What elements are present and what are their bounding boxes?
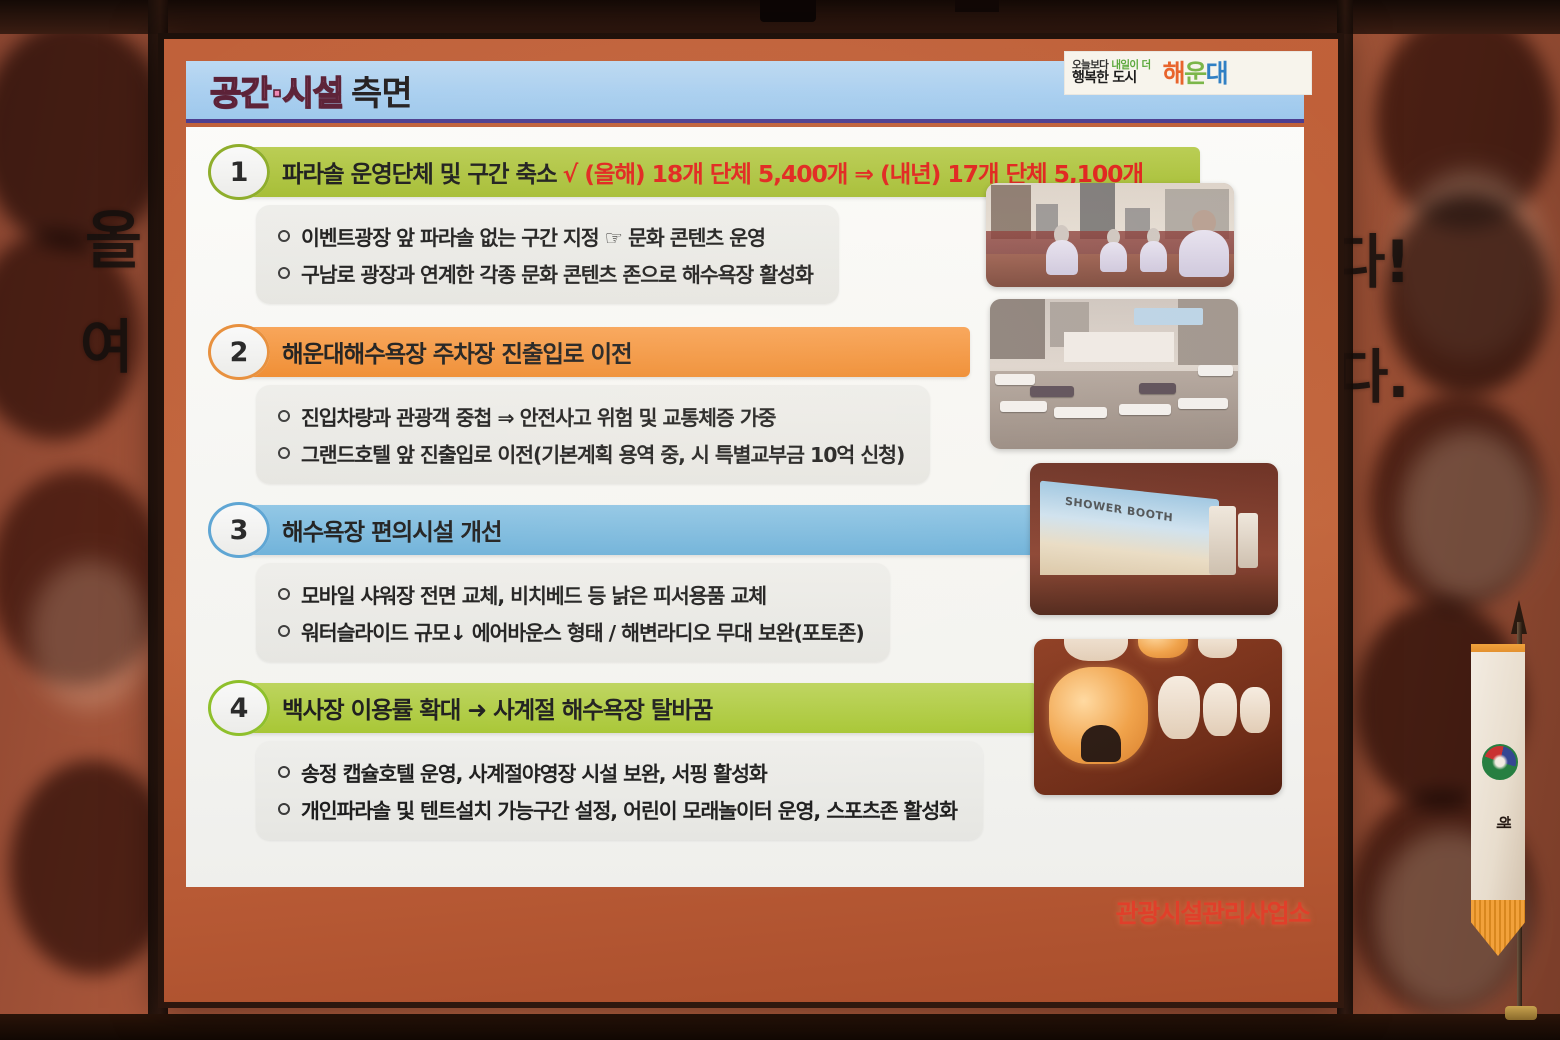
list-item: 워터슬라이드 규모↓ 에어바운스 형태 / 해변라디오 무대 보완(포토존) — [278, 612, 864, 649]
bullet-icon — [278, 447, 290, 459]
photo-capsule-hotel — [1034, 639, 1282, 795]
section-2-bullet-2: 그랜드호텔 앞 진출입로 이전(기본계획 용역 중, 시 특별교부금 10억 신… — [301, 438, 904, 468]
photo4-pod — [1138, 639, 1188, 658]
section-3: 해수욕장 편의시설 개선 3 모바일 샤워장 전면 교체, 비치베드 등 낡은 … — [208, 505, 890, 662]
section-4-number: 4 — [208, 680, 270, 736]
bullet-icon — [278, 230, 290, 242]
list-item: 진입차량과 관광객 중첩 ⇒ 안전사고 위험 및 교통체증 가중 — [278, 397, 904, 434]
photo-beach-performance — [986, 183, 1234, 287]
list-item: 개인파라솔 및 텐트설치 가능구간 설정, 어린이 모래놀이터 운영, 스포츠존… — [278, 790, 957, 827]
section-4-number-label: 4 — [230, 693, 249, 724]
list-item: 모바일 샤워장 전면 교체, 비치베드 등 낡은 피서용품 교체 — [278, 575, 864, 612]
section-2-header: 해운대해수욕장 주차장 진출입로 이전 2 — [208, 327, 930, 377]
haeundae-logo: 오늘보다 내일이 더 행복한 도시 해운대 — [1064, 51, 1312, 95]
section-3-number: 3 — [208, 502, 270, 558]
section-3-heading-text: 해수욕장 편의시설 개선 — [282, 518, 501, 546]
flag-text: 해 — [1493, 816, 1514, 830]
photo1-dancer — [1100, 229, 1127, 273]
photo2-car — [1054, 407, 1106, 418]
photo2-car — [1139, 383, 1176, 394]
photo1-dancer — [1140, 228, 1167, 273]
section-3-bar: 해수욕장 편의시설 개선 — [240, 505, 1038, 555]
haeundae-emblem-icon — [1482, 744, 1518, 780]
logo-brand-char-3: 대 — [1206, 59, 1228, 88]
logo-tagline: 오늘보다 내일이 더 행복한 도시 — [1072, 60, 1151, 86]
ceiling-fixture — [955, 0, 999, 12]
photo4-pod — [1198, 639, 1238, 658]
photo4-pod — [1203, 683, 1238, 736]
bullet-icon — [278, 803, 290, 815]
bullet-icon — [278, 766, 290, 778]
section-2-number: 2 — [208, 324, 270, 380]
section-3-bullet-1: 모바일 샤워장 전면 교체, 비치베드 등 낡은 피서용품 교체 — [301, 579, 766, 609]
list-item: 구남로 광장과 연계한 각종 문화 콘텐츠 존으로 해수욕장 활성화 — [278, 254, 813, 291]
bullet-icon — [278, 625, 290, 637]
photo2-car — [1198, 365, 1233, 376]
section-2-number-label: 2 — [230, 337, 249, 368]
section-4-heading-text: 백사장 이용률 확대 ➜ 사계절 해수욕장 탈바꿈 — [282, 696, 712, 724]
section-1-number-label: 1 — [230, 157, 249, 188]
photo3-unit — [1209, 506, 1236, 576]
section-3-number-label: 3 — [230, 515, 249, 546]
photo4-pod — [1158, 676, 1200, 738]
section-1-heading-text: 파라솔 운영단체 및 구간 축소 — [282, 160, 557, 188]
presentation-slide: 공간·시설측면 오늘보다 내일이 더 행복한 도시 해운대 — [164, 39, 1338, 1002]
bullet-icon — [278, 267, 290, 279]
ceremonial-flag: 해 — [1455, 600, 1551, 1020]
photo2-car — [1178, 398, 1228, 409]
page-title: 공간·시설측면 — [210, 66, 412, 115]
logo-brand-char-2: 운 — [1184, 59, 1206, 88]
ceiling-fixture — [760, 0, 816, 22]
section-2: 해운대해수욕장 주차장 진출입로 이전 2 진입차량과 관광객 중첩 ⇒ 안전사… — [208, 327, 930, 484]
section-1-number: 1 — [208, 144, 270, 200]
list-item: 그랜드호텔 앞 진출입로 이전(기본계획 용역 중, 시 특별교부금 10억 신… — [278, 434, 904, 471]
photo1-dancer — [1046, 225, 1078, 275]
section-4-bar: 백사장 이용률 확대 ➜ 사계절 해수욕장 탈바꿈 — [240, 683, 1038, 733]
photo3-ground — [1030, 575, 1278, 615]
photo2-building — [990, 299, 1045, 359]
projection-screen: 공간·시설측면 오늘보다 내일이 더 행복한 도시 해운대 — [158, 33, 1344, 1008]
flag-base — [1505, 1006, 1537, 1020]
page-title-rest: 측면 — [351, 74, 412, 114]
backdrop-face — [30, 560, 150, 710]
page-title-highlight: 공간·시설 — [210, 74, 343, 114]
section-2-bullets: 진입차량과 관광객 중첩 ⇒ 안전사고 위험 및 교통체증 가중 그랜드호텔 앞… — [256, 385, 930, 484]
backdrop-calligraphy: 올 — [85, 190, 141, 280]
photo2-car — [995, 374, 1035, 385]
photo2-billboard — [1134, 308, 1203, 325]
section-3-bullet-2: 워터슬라이드 규모↓ 에어바운스 형태 / 해변라디오 무대 보완(포토존) — [301, 616, 864, 646]
photo3-unit — [1238, 513, 1258, 568]
photo-shower-booth: SHOWER BOOTH — [1030, 463, 1278, 615]
section-4-heading: 백사장 이용률 확대 ➜ 사계절 해수욕장 탈바꿈 — [282, 691, 718, 725]
list-item: 송정 캡슐호텔 운영, 사계절야영장 시설 보완, 서핑 활성화 — [278, 753, 957, 790]
section-1-bullet-1: 이벤트광장 앞 파라솔 없는 구간 지정 ☞ 문화 콘텐츠 운영 — [301, 221, 765, 251]
slide-content-panel: 파라솔 운영단체 및 구간 축소√ (올해) 18개 단체 5,400개 ⇒ (… — [186, 127, 1304, 887]
room-backdrop: 올 여 다! 다. 공간·시설측면 오늘보다 내일이 더 행복한 — [0, 0, 1560, 1040]
photo1-dancer — [1179, 210, 1229, 277]
photo2-parking-deck — [1064, 332, 1173, 362]
section-1-header: 파라솔 운영단체 및 구간 축소√ (올해) 18개 단체 5,400개 ⇒ (… — [208, 147, 839, 197]
section-1-bullets: 이벤트광장 앞 파라솔 없는 구간 지정 ☞ 문화 콘텐츠 운영 구남로 광장과… — [256, 205, 839, 304]
section-2-bar: 해운대해수욕장 주차장 진출입로 이전 — [240, 327, 970, 377]
section-4: 백사장 이용률 확대 ➜ 사계절 해수욕장 탈바꿈 4 송정 캡슐호텔 운영, … — [208, 683, 983, 840]
photo2-car — [1030, 386, 1075, 397]
section-1-bullet-2: 구남로 광장과 연계한 각종 문화 콘텐츠 존으로 해수욕장 활성화 — [301, 258, 813, 288]
backdrop-calligraphy: 여 — [80, 300, 132, 384]
section-2-heading: 해운대해수욕장 주차장 진출입로 이전 — [282, 335, 638, 369]
photo2-car — [1000, 401, 1047, 412]
slide-footer: 관광시설관리사업소 — [1116, 894, 1310, 930]
section-1: 파라솔 운영단체 및 구간 축소√ (올해) 18개 단체 5,400개 ⇒ (… — [208, 147, 839, 304]
photo4-person — [1081, 725, 1121, 762]
bullet-icon — [278, 588, 290, 600]
photo2-car — [1119, 404, 1171, 415]
section-4-header: 백사장 이용률 확대 ➜ 사계절 해수욕장 탈바꿈 4 — [208, 683, 983, 733]
section-2-bullet-1: 진입차량과 관광객 중첩 ⇒ 안전사고 위험 및 교통체증 가중 — [301, 401, 775, 431]
photo4-pod — [1240, 687, 1270, 732]
bullet-icon — [278, 410, 290, 422]
section-3-heading: 해수욕장 편의시설 개선 — [282, 513, 507, 547]
list-item: 이벤트광장 앞 파라솔 없는 구간 지정 ☞ 문화 콘텐츠 운영 — [278, 217, 813, 254]
logo-brand-name: 해운대 — [1163, 61, 1228, 86]
section-4-bullet-1: 송정 캡슐호텔 운영, 사계절야영장 시설 보완, 서핑 활성화 — [301, 757, 767, 787]
section-3-bullets: 모바일 샤워장 전면 교체, 비치베드 등 낡은 피서용품 교체 워터슬라이드 … — [256, 563, 890, 662]
section-4-bullet-2: 개인파라솔 및 텐트설치 가능구간 설정, 어린이 모래놀이터 운영, 스포츠존… — [301, 794, 957, 824]
floor — [0, 1014, 1560, 1040]
backdrop-face — [1400, 430, 1540, 600]
logo-brand-char-1: 해 — [1163, 59, 1185, 88]
photo-traffic-congestion — [990, 299, 1238, 449]
section-3-header: 해수욕장 편의시설 개선 3 — [208, 505, 890, 555]
logo-tagline-bottom: 행복한 도시 — [1072, 71, 1151, 86]
section-2-heading-text: 해운대해수욕장 주차장 진출입로 이전 — [282, 340, 632, 368]
section-4-bullets: 송정 캡슐호텔 운영, 사계절야영장 시설 보완, 서핑 활성화 개인파라솔 및… — [256, 741, 983, 840]
